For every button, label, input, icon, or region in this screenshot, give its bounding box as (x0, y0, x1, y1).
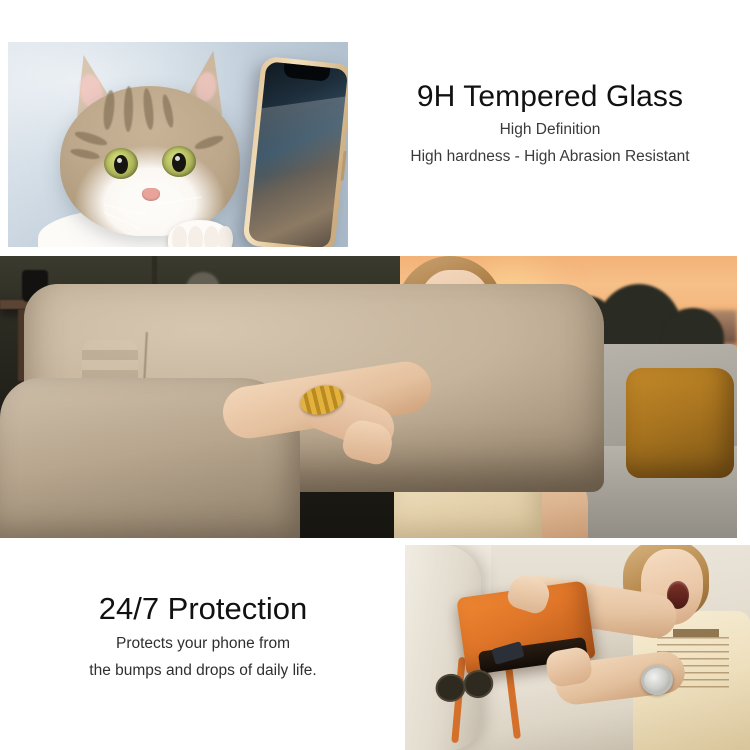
phone-notch (283, 63, 330, 82)
tempered-glass-subline-2: High hardness - High Abrasion Resistant (355, 143, 745, 170)
protection-subline-1: Protects your phone from (18, 630, 388, 657)
marketing-image-canvas: 9H Tempered Glass High Definition High h… (0, 0, 750, 750)
tempered-glass-headline: 9H Tempered Glass (355, 78, 745, 116)
phone-screen-reflection (248, 61, 348, 247)
photo-shocked-woman-emptying-bag (405, 545, 750, 750)
gold-smartphone (242, 56, 348, 247)
photo-woman-placing-phone-in-bag (0, 256, 737, 538)
photo-kitten-touching-phone (8, 42, 348, 247)
ochre-cushion (626, 368, 734, 478)
kitten-nose (142, 188, 160, 201)
tempered-glass-subline-1: High Definition (355, 116, 745, 143)
feature-text-tempered-glass: 9H Tempered Glass High Definition High h… (355, 78, 745, 170)
feature-text-protection: 24/7 Protection Protects your phone from… (18, 588, 388, 684)
kitten-eye-left (104, 148, 138, 179)
protection-headline: 24/7 Protection (18, 588, 388, 630)
protection-subline-2: the bumps and drops of daily life. (18, 657, 388, 684)
kitten-eye-right (162, 146, 196, 177)
tank-top-print-heading (673, 629, 719, 637)
